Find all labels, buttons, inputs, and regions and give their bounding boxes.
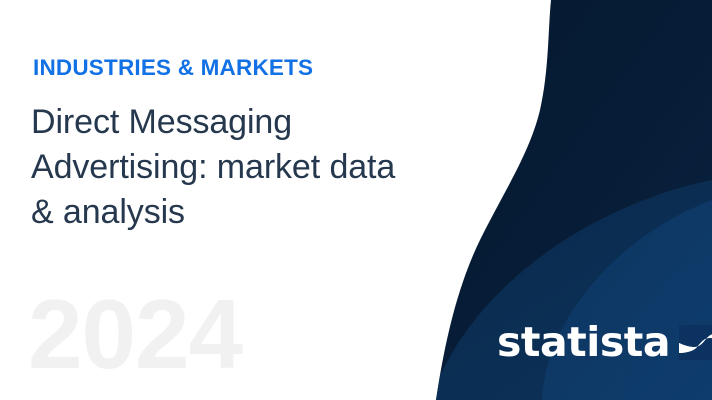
statista-report-cover: 2024 INDUSTRIES & MARKETS Direct Messagi…	[0, 0, 712, 400]
page-title: Direct Messaging Advertising: market dat…	[31, 100, 481, 235]
year-watermark: 2024	[28, 285, 242, 383]
statista-s-mark-icon	[679, 325, 712, 360]
statista-wordmark: statista	[497, 322, 670, 363]
page-title-line-1: Direct Messaging	[31, 100, 481, 145]
page-title-line-2: Advertising: market data	[31, 145, 481, 190]
statista-logo: statista	[497, 322, 712, 363]
page-title-line-3: & analysis	[31, 190, 481, 235]
category-eyebrow: INDUSTRIES & MARKETS	[33, 56, 313, 81]
cover-text-layer: 2024 INDUSTRIES & MARKETS Direct Messagi…	[0, 0, 470, 400]
